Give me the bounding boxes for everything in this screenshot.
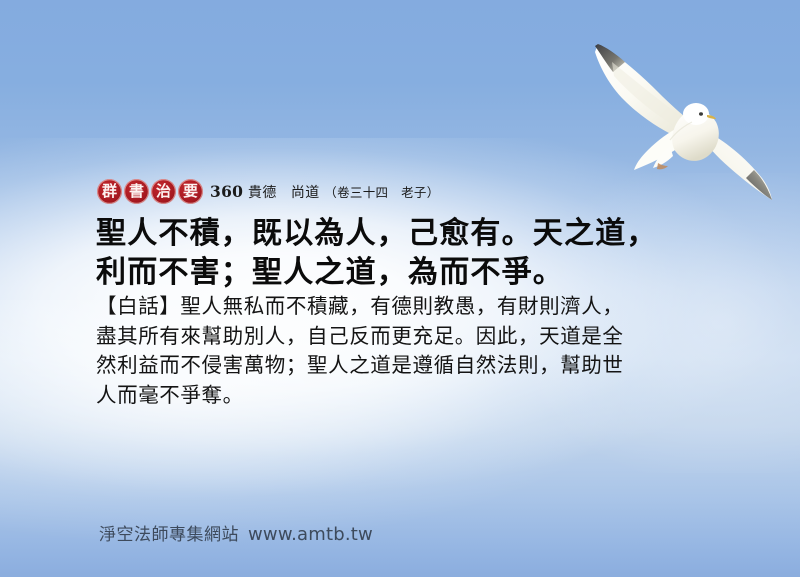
footer-site-name: 淨空法師專集網站 — [99, 520, 239, 545]
quote-line-2: 利而不害；聖人之道，為而不爭。 — [96, 253, 736, 292]
quotation-slide: 群 書 治 要 360 貴德 尚道 （卷三十四 老子） 聖人不積，既以為人，己愈… — [0, 0, 800, 577]
vernacular-explanation: 【白話】聖人無私而不積藏，有德則教愚，有財則濟人， 盡其所有來幫助別人，自己反而… — [96, 292, 716, 410]
exposition-line-4: 人而毫不爭奪。 — [96, 381, 716, 411]
entry-topic: 貴德 尚道 — [248, 185, 320, 201]
entry-source: （卷三十四 老子） — [324, 185, 439, 200]
footer-url[interactable]: www.amtb.tw — [248, 524, 373, 545]
reference-line: 360 貴德 尚道 （卷三十四 老子） — [210, 182, 440, 202]
quotation-text: 聖人不積，既以為人，己愈有。天之道， 利而不害；聖人之道，為而不爭。 — [96, 214, 736, 292]
header-line: 群 書 治 要 360 貴德 尚道 （卷三十四 老子） — [97, 179, 440, 204]
footer: 淨空法師專集網站 www.amtb.tw — [99, 520, 373, 545]
seal-char-3: 治 — [151, 179, 176, 204]
exposition-line-1: 【白話】聖人無私而不積藏，有德則教愚，有財則濟人， — [96, 292, 716, 322]
seal-char-1: 群 — [97, 179, 122, 204]
series-seal-group: 群 書 治 要 — [97, 179, 203, 204]
seal-char-2: 書 — [124, 179, 149, 204]
exposition-line-3: 然利益而不侵害萬物；聖人之道是遵循自然法則，幫助世 — [96, 351, 716, 381]
seal-char-4: 要 — [178, 179, 203, 204]
entry-number: 360 — [210, 182, 243, 201]
quote-line-1: 聖人不積，既以為人，己愈有。天之道， — [96, 214, 736, 253]
exposition-line-2: 盡其所有來幫助別人，自己反而更充足。因此，天道是全 — [96, 322, 716, 352]
